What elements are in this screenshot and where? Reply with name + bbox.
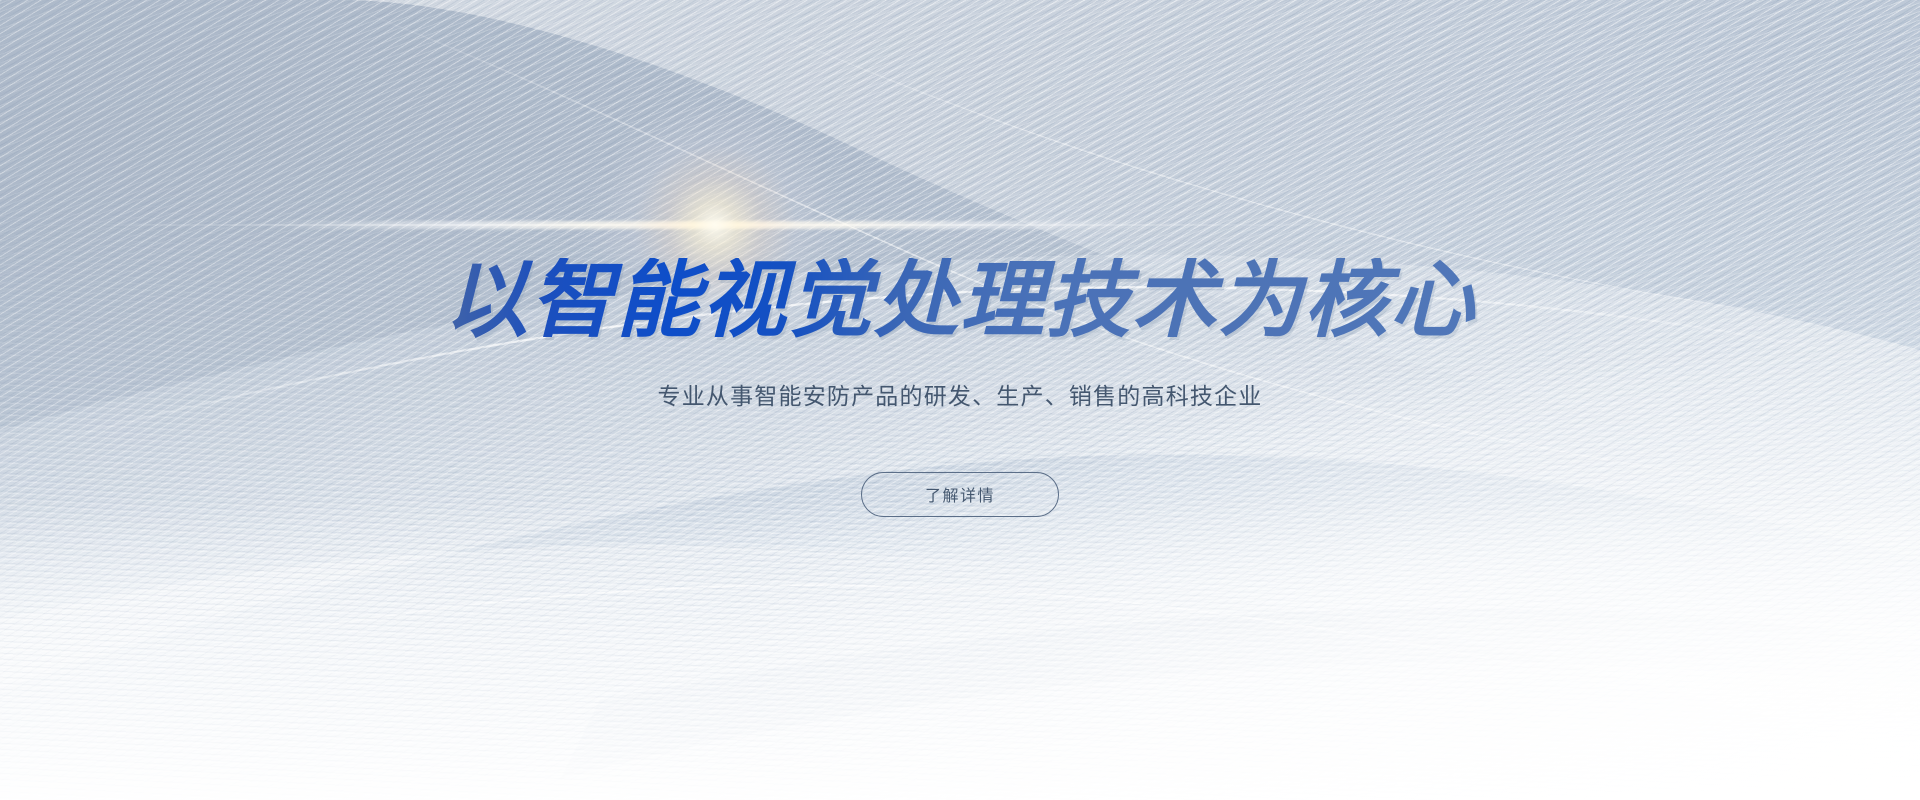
hero-subtitle: 专业从事智能安防产品的研发、生产、销售的高科技企业 [658, 377, 1263, 411]
hero-headline: 以智能视觉处理技术为核心 [444, 258, 1476, 344]
hero-content: 以智能视觉处理技术为核心 专业从事智能安防产品的研发、生产、销售的高科技企业 了… [0, 0, 1920, 800]
learn-more-button[interactable]: 了解详情 [861, 472, 1059, 517]
hero-banner: 以智能视觉处理技术为核心 专业从事智能安防产品的研发、生产、销售的高科技企业 了… [0, 0, 1920, 800]
